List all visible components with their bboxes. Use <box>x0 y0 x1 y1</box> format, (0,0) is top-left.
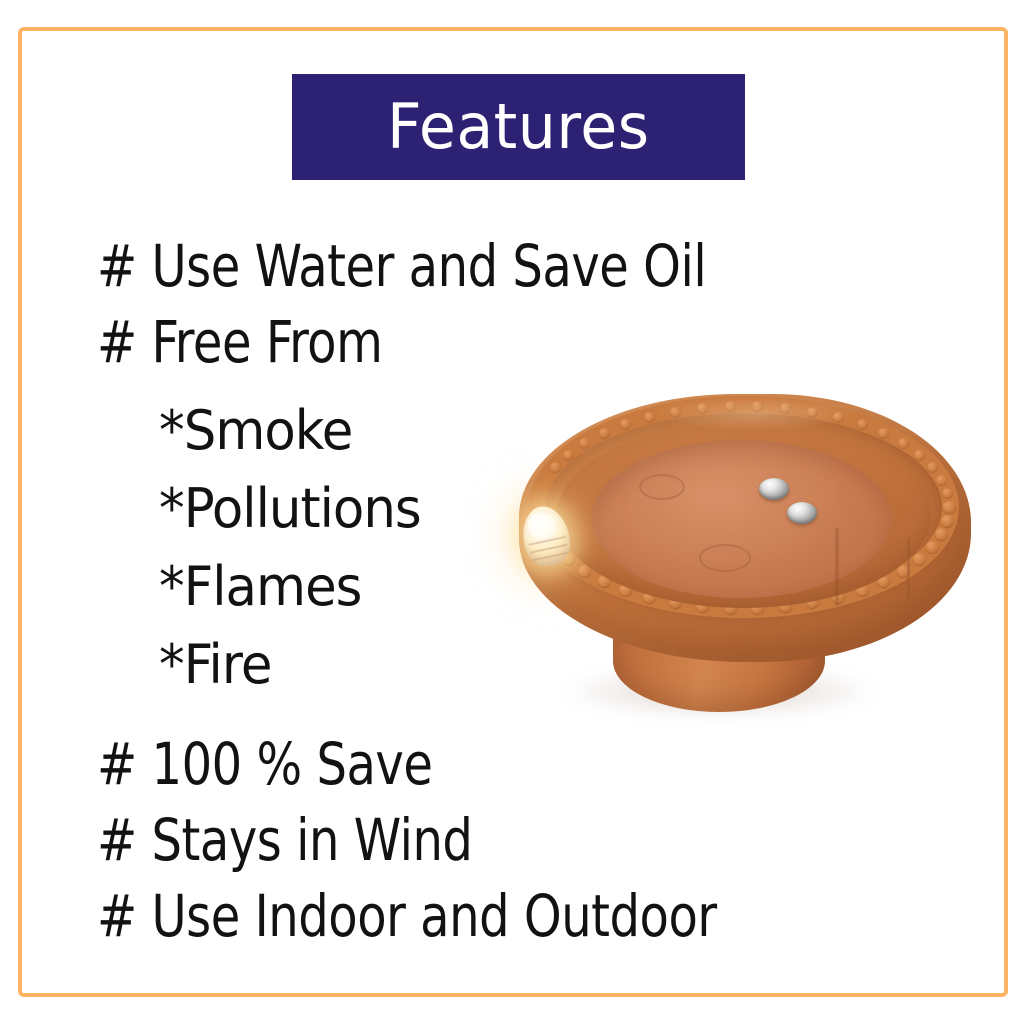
feature-lower-list: #100 % Save #Stays in Wind #Use Indoor a… <box>97 726 977 954</box>
feature-item-free-from: #Free From <box>97 304 907 380</box>
rim-bead <box>927 462 938 472</box>
body-seam <box>835 528 839 606</box>
feature-item-label: Use Indoor and Outdoor <box>151 882 716 950</box>
hash-bullet-icon: # <box>97 304 137 380</box>
rim-bead <box>936 475 947 485</box>
page-title: Features <box>387 96 649 158</box>
basin-dimple <box>639 474 685 500</box>
diya-water-basin <box>591 440 891 598</box>
electrode-contact <box>787 502 817 524</box>
hash-bullet-icon: # <box>97 878 137 954</box>
feature-item-use-indoor-and-outdoor: #Use Indoor and Outdoor <box>97 878 907 954</box>
rim-bead <box>914 450 925 460</box>
rim-bead <box>926 541 939 553</box>
rim-bead <box>599 428 610 438</box>
basin-dimple <box>699 544 751 572</box>
feature-item-label: 100 % Save <box>151 730 432 798</box>
led-ridge <box>532 552 570 562</box>
hash-bullet-icon: # <box>97 726 137 802</box>
rim-bead <box>942 488 953 498</box>
body-seam <box>907 538 910 600</box>
rim-bead <box>913 553 926 565</box>
led-glow-core <box>525 510 558 541</box>
hash-bullet-icon: # <box>97 228 137 304</box>
rim-bead <box>898 438 909 448</box>
rim-highlight <box>655 396 855 430</box>
electrode-contact <box>759 478 789 500</box>
rim-bead <box>943 501 956 513</box>
feature-item-label: Use Water and Save Oil <box>151 232 706 300</box>
feature-item-label: Stays in Wind <box>151 806 472 874</box>
feature-item-use-water: #Use Water and Save Oil <box>97 228 907 304</box>
feature-card: Features #Use Water and Save Oil #Free F… <box>0 0 1024 1024</box>
hash-bullet-icon: # <box>97 802 137 878</box>
rim-bead <box>941 515 954 527</box>
title-banner: Features <box>292 74 745 180</box>
feature-item-stays-in-wind: #Stays in Wind <box>97 802 907 878</box>
rim-bead <box>935 528 948 540</box>
rim-bead <box>564 450 575 460</box>
product-image-diya <box>505 378 985 738</box>
feature-item-label: Free From <box>151 308 382 376</box>
